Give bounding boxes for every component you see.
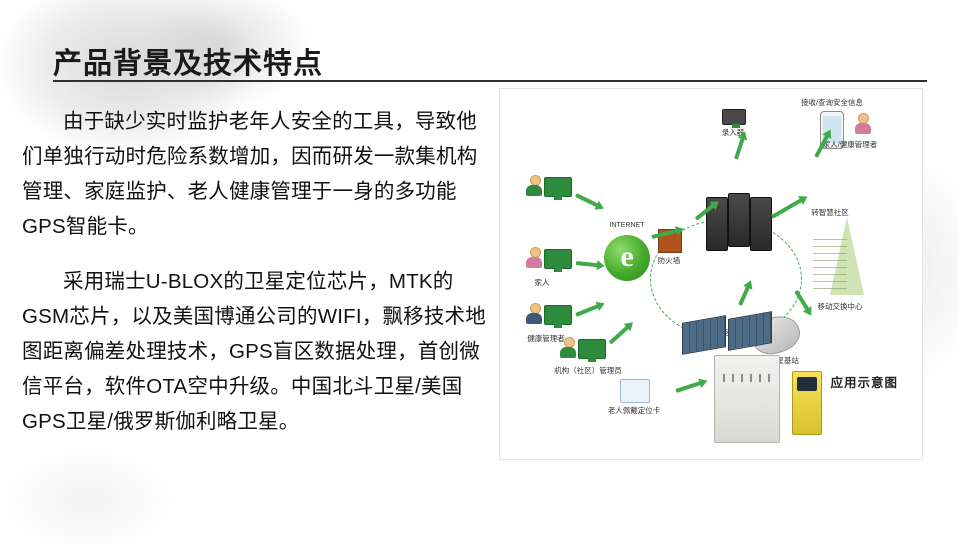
server-rack-icon [750,197,772,251]
elderly-card-label: 老人佩戴定位卡 [608,405,661,416]
family-label: 家人 [535,277,550,288]
flow-arrow-icon [575,193,598,207]
person-body-icon [526,313,542,324]
gps-card-icon [620,379,650,403]
internet-label: INTERNET [610,222,645,229]
health-manager-label: 健康管理者 [527,333,565,344]
phone-screen-icon [797,377,817,391]
flow-arrow-icon [575,304,599,317]
family-health-manager-label: 家人/健康管理者 [823,139,878,150]
person-body-icon [855,123,871,134]
cabinet-slots-icon [723,374,771,382]
flow-arrow-icon [734,137,745,159]
person-body-icon [560,347,576,358]
solar-panel-icon [682,315,726,355]
monitor-icon [544,177,572,197]
server-rack-icon [728,193,750,247]
diagram-canvas: e INTERNET 防火墙 智慧社区（机构） 录入器 接收/查询安全信息 家人… [500,89,922,459]
flow-arrow-icon [576,261,598,267]
slide-root: 产品背景及技术特点 由于缺少实时监护老年人安全的工具，导致他们单独行动时危险系数… [0,0,958,544]
equipment-cabinet-icon [714,355,780,443]
internet-e-icon: e [604,235,650,281]
monitor-icon [544,305,572,325]
firewall-label: 防火墙 [658,255,681,266]
org-manager-label: 机构（社区）管理员 [554,365,622,376]
body-paragraph-2: 采用瑞士U-BLOX的卫星定位芯片，MTK的GSM芯片，以及美国博通公司的WIF… [22,264,492,439]
body-paragraph-1: 由于缺少实时监护老年人安全的工具，导致他们单独行动时危险系数增加，因而研发一款集… [22,104,492,244]
tower-lattice-icon [813,239,847,295]
mobile-exchange-label: 移动交换中心 [818,301,863,312]
flow-arrow-icon [771,198,802,218]
relay-label: 转智慧社区 [811,207,849,218]
figure-caption: 应用示意图 [830,372,898,391]
receive-info-label: 接收/查询安全信息 [801,97,863,108]
application-diagram-image: e INTERNET 防火墙 智慧社区（机构） 录入器 接收/查询安全信息 家人… [499,88,923,460]
monitor-icon [578,339,606,359]
flow-arrow-icon [609,325,630,344]
background-smudge-icon [0,430,220,544]
person-body-icon [526,257,542,268]
body-text-block: 由于缺少实时监护老年人安全的工具，导致他们单独行动时危险系数增加，因而研发一款集… [22,104,492,439]
emergency-phone-icon [792,371,822,435]
flow-arrow-icon [675,381,701,393]
monitor-icon [544,249,572,269]
title-divider [53,80,927,82]
recorder-icon [722,109,746,125]
page-title: 产品背景及技术特点 [53,40,323,82]
person-body-icon [526,185,542,196]
